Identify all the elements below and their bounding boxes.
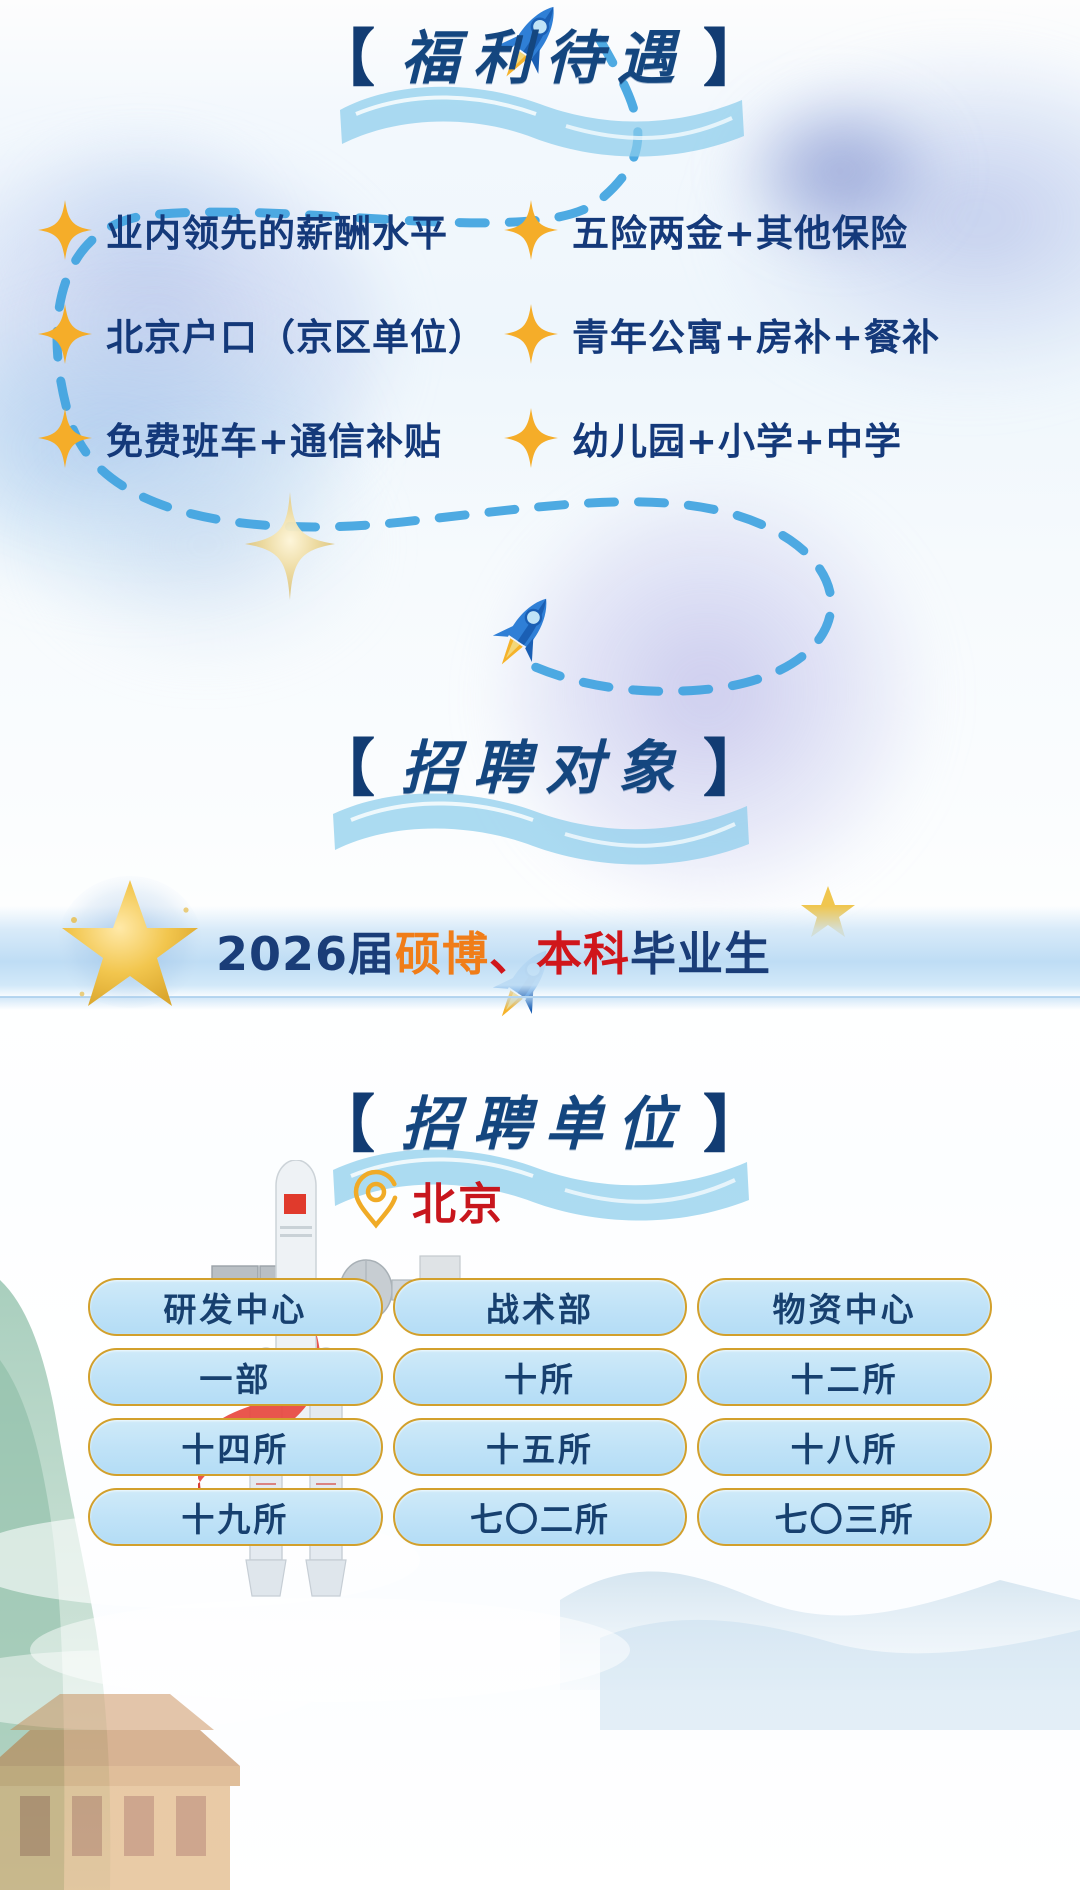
benefit-label: 五险两金+其他保险	[572, 203, 908, 257]
target-degree-master: 硕博	[395, 927, 489, 981]
unit-chip[interactable]: 十所	[393, 1348, 688, 1406]
bracket-right: 】	[703, 8, 767, 98]
unit-chip[interactable]: 十五所	[393, 1418, 688, 1476]
gold-star-icon	[58, 868, 208, 1028]
benefit-label: 青年公寓+房补+餐补	[572, 307, 940, 361]
section-title-employers: 【 招聘单位 】	[0, 1074, 1080, 1164]
target-degree-bachelor: 本科	[536, 927, 630, 981]
unit-chip[interactable]: 十二所	[697, 1348, 992, 1406]
target-suffix: 毕业生	[630, 927, 771, 981]
benefit-label: 免费班车+通信补贴	[106, 411, 442, 465]
benefit-row: 免费班车+通信补贴 幼儿园+小学+中学	[0, 386, 1080, 490]
four-point-star-icon	[504, 408, 558, 468]
bracket-left: 【	[313, 8, 377, 98]
bracket-right: 】	[703, 718, 767, 808]
unit-chip[interactable]: 十八所	[697, 1418, 992, 1476]
benefits-list: 业内领先的薪酬水平 五险两金+其他保险 北京户口（京区单位） 青年公寓+	[0, 178, 1080, 490]
benefit-item: 五险两金+其他保险	[492, 200, 1080, 260]
location-label: 北京	[352, 1168, 504, 1232]
recruit-target-text: 2026届硕博、本科毕业生	[216, 918, 771, 984]
dashed-path-decoration	[0, 0, 1080, 1000]
section-title-targets: 【 招聘对象 】	[0, 718, 1080, 808]
recruit-target-banner: 2026届硕博、本科毕业生	[0, 906, 1080, 998]
title-bracket-group: 【 招聘单位 】	[313, 1074, 767, 1164]
benefit-label: 幼儿园+小学+中学	[572, 411, 902, 465]
rocket-icon	[492, 588, 558, 672]
location-name: 北京	[412, 1168, 504, 1232]
benefit-item: 免费班车+通信补贴	[0, 408, 492, 468]
bracket-left: 【	[313, 1074, 377, 1164]
palace-icon	[0, 1590, 300, 1890]
section-title-text: 招聘单位	[387, 1077, 693, 1161]
unit-chip[interactable]: 十九所	[88, 1488, 383, 1546]
section-title-text: 福利待遇	[387, 11, 693, 95]
poster-canvas: 【 福利待遇 】 业内领先的薪酬水平	[0, 0, 1080, 1890]
section-title-benefits: 【 福利待遇 】	[0, 8, 1080, 98]
unit-chip[interactable]: 研发中心	[88, 1278, 383, 1336]
benefit-item: 业内领先的薪酬水平	[0, 200, 492, 260]
benefit-item: 北京户口（京区单位）	[0, 304, 492, 364]
title-bracket-group: 【 招聘对象 】	[313, 718, 767, 808]
section-title-text: 招聘对象	[387, 721, 693, 805]
unit-chip[interactable]: 七〇二所	[393, 1488, 688, 1546]
target-separator: 、	[489, 927, 536, 981]
benefit-label: 北京户口（京区单位）	[106, 307, 486, 361]
map-pin-icon	[352, 1169, 400, 1231]
unit-chip[interactable]: 战术部	[393, 1278, 688, 1336]
bracket-right: 】	[703, 1074, 767, 1164]
benefit-item: 幼儿园+小学+中学	[492, 408, 1080, 468]
unit-chip[interactable]: 一部	[88, 1348, 383, 1406]
benefit-row: 业内领先的薪酬水平 五险两金+其他保险	[0, 178, 1080, 282]
unit-chip[interactable]: 物资中心	[697, 1278, 992, 1336]
four-point-star-icon	[38, 408, 92, 468]
four-point-star-icon	[504, 304, 558, 364]
unit-chip[interactable]: 十四所	[88, 1418, 383, 1476]
sparkle-star-icon	[245, 492, 335, 600]
benefit-row: 北京户口（京区单位） 青年公寓+房补+餐补	[0, 282, 1080, 386]
title-bracket-group: 【 福利待遇 】	[313, 8, 767, 98]
watercolor-blob	[500, 490, 930, 910]
four-point-star-icon	[504, 200, 558, 260]
four-point-star-icon	[38, 200, 92, 260]
benefit-label: 业内领先的薪酬水平	[106, 203, 448, 257]
employer-units-grid: 研发中心 战术部 物资中心 一部 十所 十二所 十四所 十五所 十八所 十九所 …	[0, 1278, 1080, 1546]
four-point-star-icon	[38, 304, 92, 364]
bracket-left: 【	[313, 718, 377, 808]
benefit-item: 青年公寓+房补+餐补	[492, 304, 1080, 364]
unit-chip[interactable]: 七〇三所	[697, 1488, 992, 1546]
target-year: 2026届	[216, 927, 395, 981]
